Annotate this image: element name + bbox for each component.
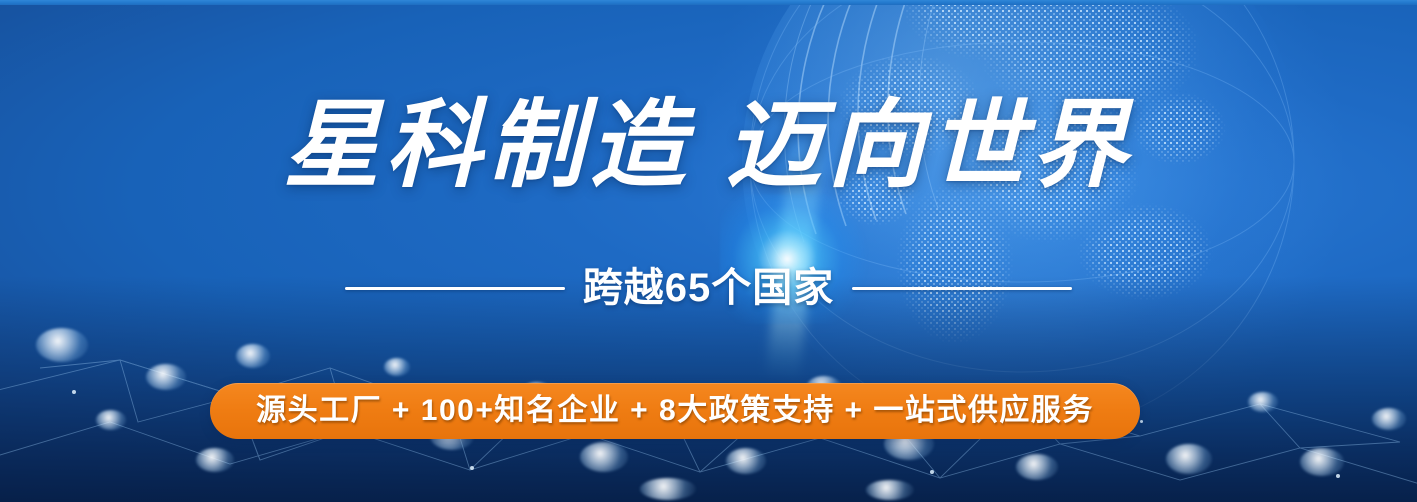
headline: 星科制造迈向世界 [0, 98, 1417, 194]
subtitle-rule-left [345, 287, 565, 290]
cta-banner-pill[interactable]: 源头工厂 + 100+知名企业 + 8大政策支持 + 一站式供应服务 [210, 383, 1140, 439]
promo-banner: 星科制造迈向世界 跨越65个国家 源头工厂 + 100+知名企业 + 8大政策支… [0, 0, 1417, 502]
banner-content: 星科制造迈向世界 跨越65个国家 源头工厂 + 100+知名企业 + 8大政策支… [0, 0, 1417, 502]
headline-part-2: 迈向世界 [726, 92, 1134, 199]
subtitle-row: 跨越65个国家 [0, 268, 1417, 308]
subtitle: 跨越65个国家 [583, 268, 835, 308]
headline-part-1: 星科制造 [284, 92, 692, 199]
subtitle-rule-right [852, 287, 1072, 290]
cta-banner-text: 源头工厂 + 100+知名企业 + 8大政策支持 + 一站式供应服务 [256, 396, 1094, 426]
